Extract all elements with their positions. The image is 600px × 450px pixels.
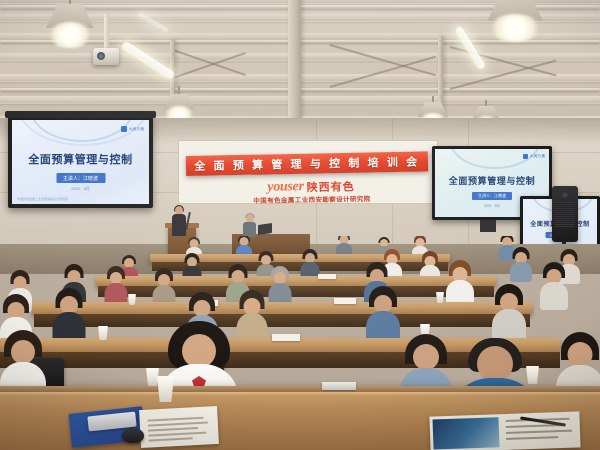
handout [272, 334, 300, 341]
slide-date: 2021 · 9月 [12, 186, 149, 192]
desk [32, 302, 532, 314]
pendant-lamp [487, 0, 543, 50]
slide-title: 全面预算管理与控制 [12, 151, 149, 167]
tv-stand [480, 220, 496, 232]
ceiling [0, 0, 600, 128]
attendee [446, 262, 474, 306]
brand-cn: 陕西有色 [307, 178, 355, 195]
handout [322, 382, 356, 390]
slide-logo-text: 大润万通 [129, 127, 144, 132]
attendee [336, 236, 352, 256]
attendee [104, 268, 127, 306]
pa-speaker [552, 186, 578, 242]
paper-cup [146, 368, 159, 386]
attendee [300, 250, 319, 278]
slide-footer: 中国有色金属工业西安勘察设计研究院 [17, 197, 68, 201]
slide-logo-text: 大润万通 [530, 154, 545, 159]
desk-front [34, 314, 530, 327]
paper-cup [157, 376, 174, 402]
open-booklet [429, 411, 580, 450]
laptop [258, 223, 272, 235]
slide-logo-mark [523, 154, 528, 159]
handout [334, 298, 356, 304]
paper-cup [128, 294, 136, 305]
slide-presenter: 主讲人：江晓波 [472, 192, 512, 200]
slide-left: 大润万通 全面预算管理与控制 主讲人：江晓波 2021 · 9月 中国有色金属工… [12, 120, 149, 204]
attendee [540, 264, 568, 308]
printed-handout [139, 406, 219, 448]
conference-photo-scene: 全 面 预 算 管 理 与 控 制 培 训 会 youser 陕西有色 中国有色… [0, 0, 600, 450]
brand-latin: youser [267, 179, 304, 196]
speaker-tweeter [561, 191, 569, 199]
computer-mouse [122, 428, 144, 443]
paper-cup [526, 366, 539, 384]
slide-presenter: 主讲人：江晓波 [56, 173, 105, 183]
screen-valance [5, 111, 156, 118]
attendee [510, 248, 532, 280]
speaker-grill [555, 202, 575, 228]
paper-cup [436, 292, 444, 303]
attendee [236, 292, 267, 344]
head-table-person [243, 214, 256, 236]
attendee [268, 268, 291, 306]
attendee [52, 290, 85, 344]
projection-screen: 大润万通 全面预算管理与控制 主讲人：江晓波 2021 · 9月 中国有色金属工… [8, 116, 153, 208]
slide-title: 全面预算管理与控制 [435, 174, 549, 187]
pendant-lamp [46, 0, 94, 52]
paper-cup [98, 326, 108, 340]
presenter [172, 206, 186, 236]
attendee [492, 286, 526, 342]
booklet-image [433, 417, 500, 449]
attendee [366, 288, 400, 344]
handout [318, 274, 336, 279]
ceiling-projector [93, 14, 119, 66]
slide-logo-mark [121, 126, 127, 132]
